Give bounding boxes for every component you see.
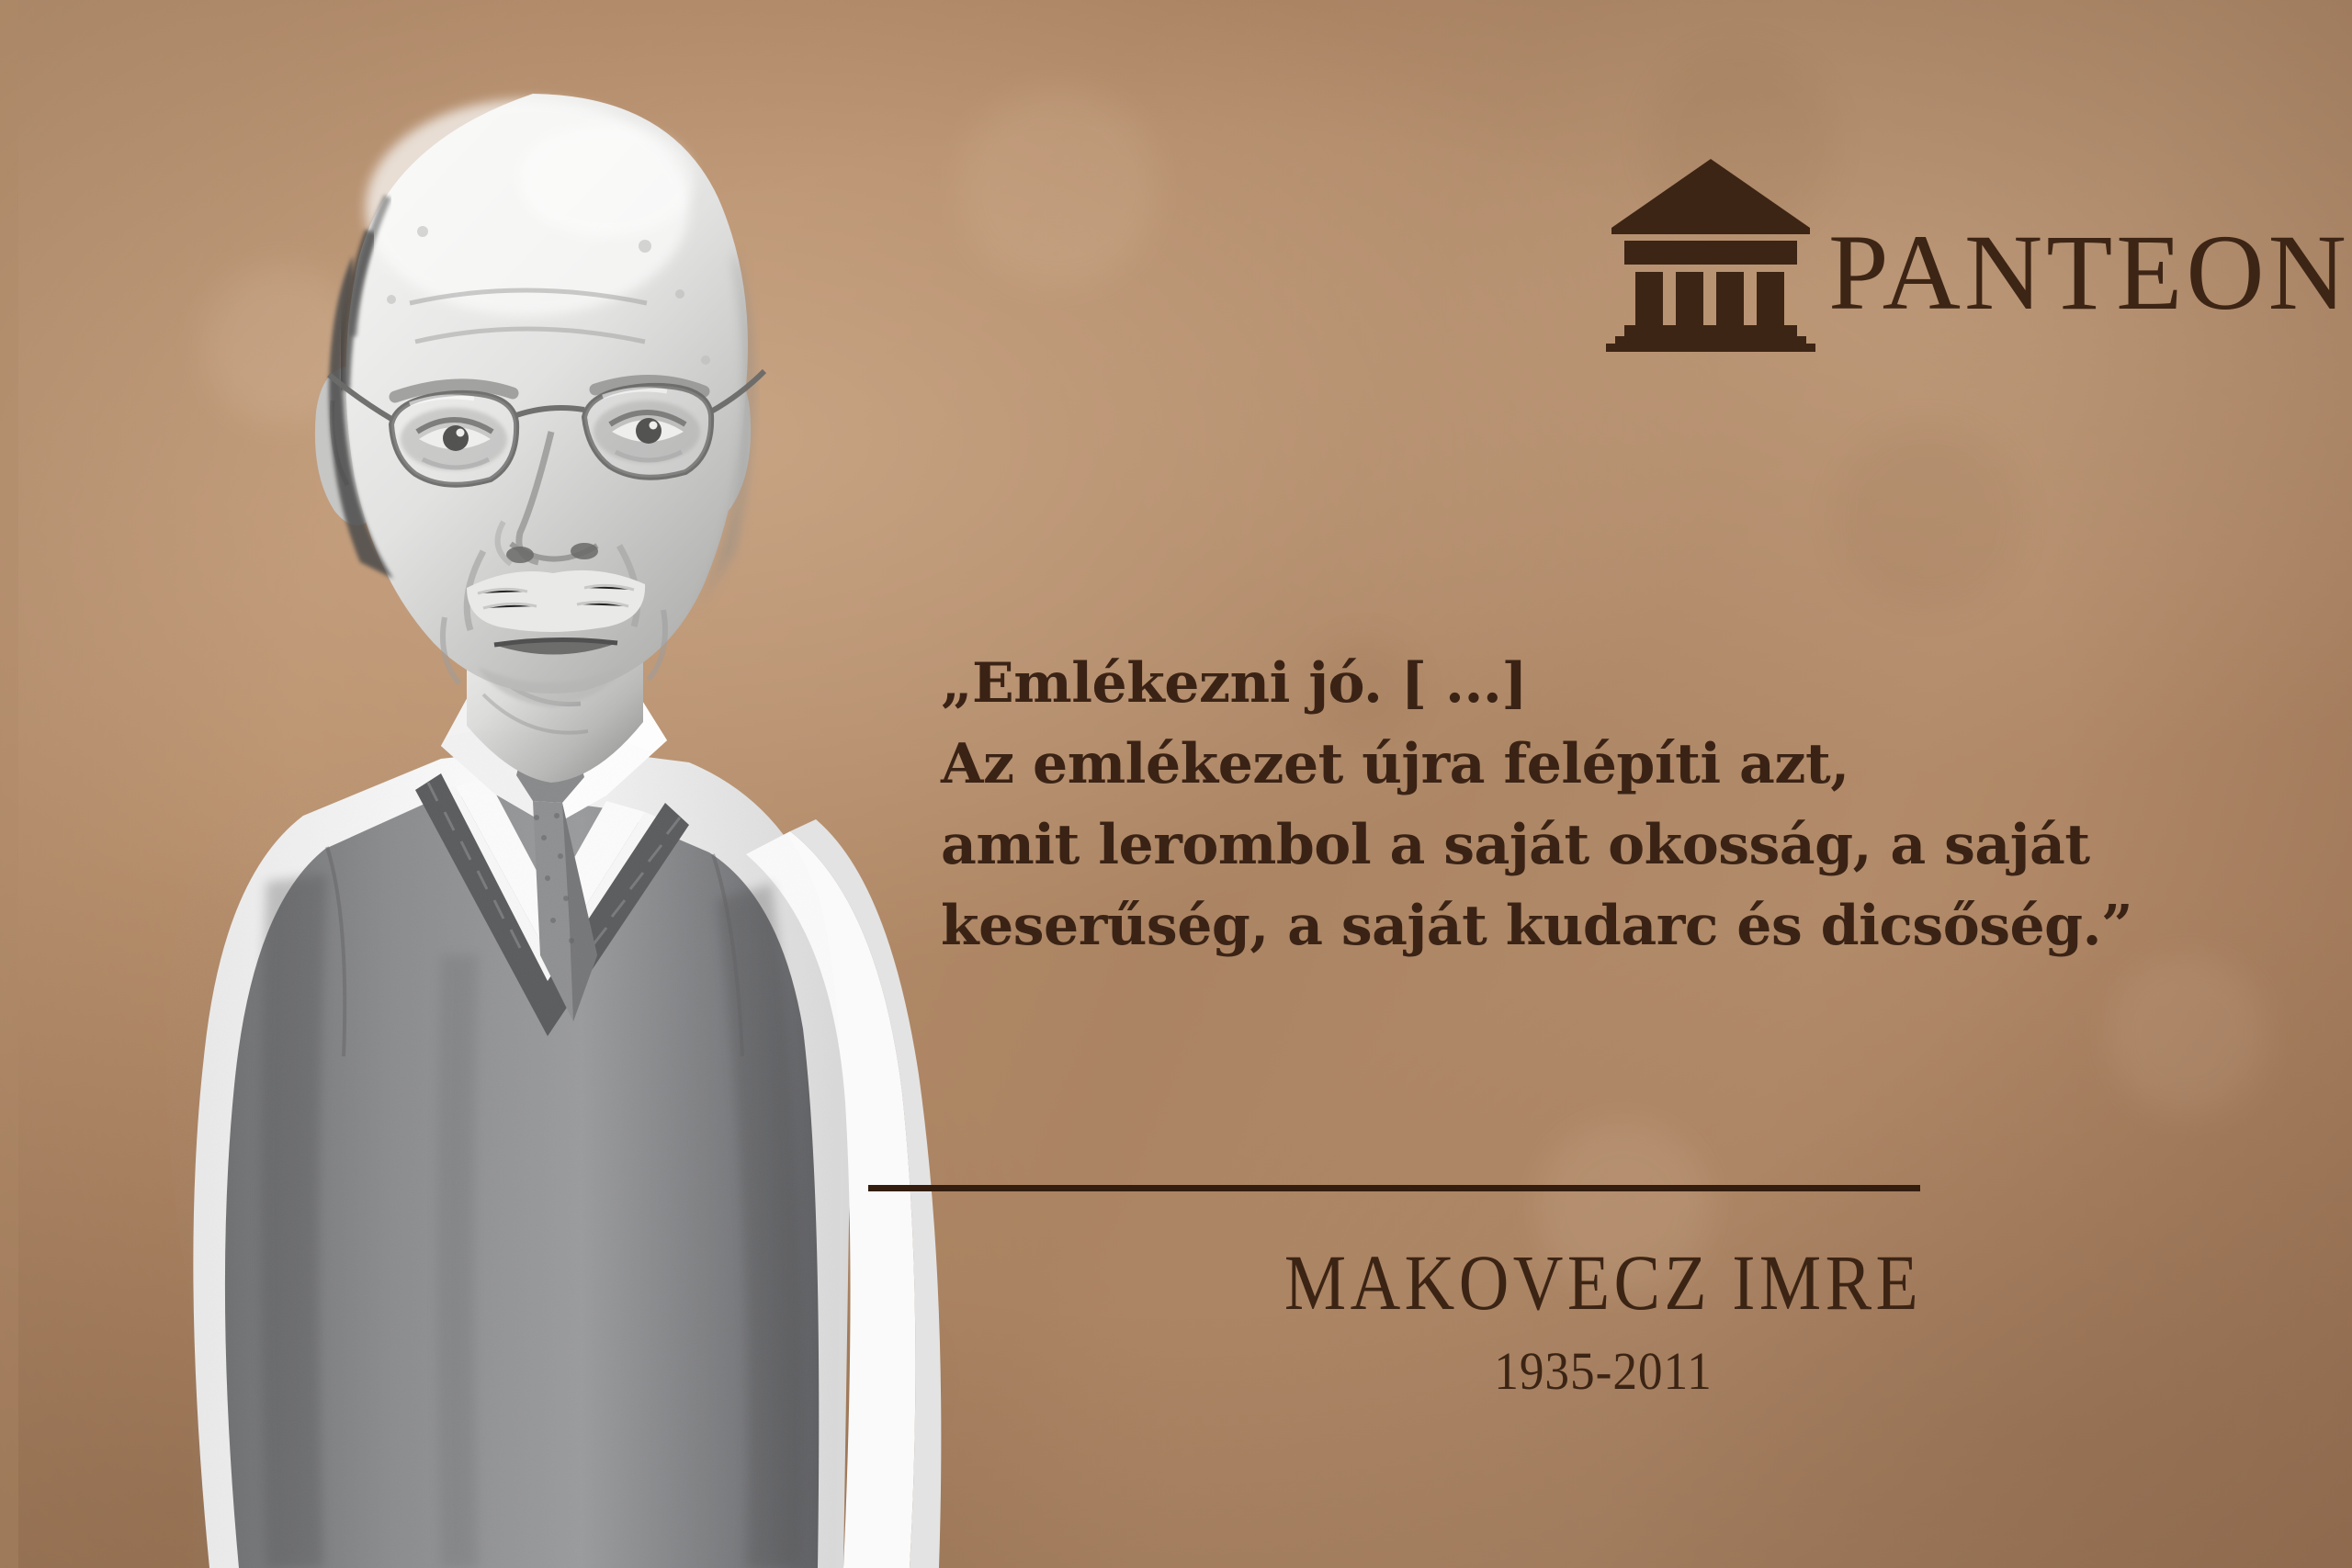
portrait-photo (0, 0, 992, 1568)
memorial-quote-card: PANTEON „Emlékezni jó. [ ...] Az emlékez… (0, 0, 2352, 1568)
quote-line: „Emlékezni jó. [ ...] (941, 643, 2245, 724)
quote-line: amit lerombol a saját okosság, a saját (941, 805, 2245, 886)
logo-wordmark: PANTEON (1828, 219, 2350, 327)
person-life-dates: 1935-2011 (927, 1342, 2279, 1401)
panteon-logo[interactable]: PANTEON (1606, 154, 2350, 352)
quote-line: Az emlékezet újra felépíti azt, (941, 724, 2245, 805)
quote-line: keserűség, a saját kudarc és dicsőség.” (941, 886, 2245, 966)
horizontal-divider (868, 1185, 1920, 1191)
person-name: MAKOVECZ IMRE (956, 1240, 2250, 1325)
attribution-block: MAKOVECZ IMRE 1935-2011 (868, 1240, 2338, 1401)
quote-block: „Emlékezni jó. [ ...] Az emlékezet újra … (941, 643, 2245, 966)
pantheon-temple-icon (1606, 154, 1815, 352)
